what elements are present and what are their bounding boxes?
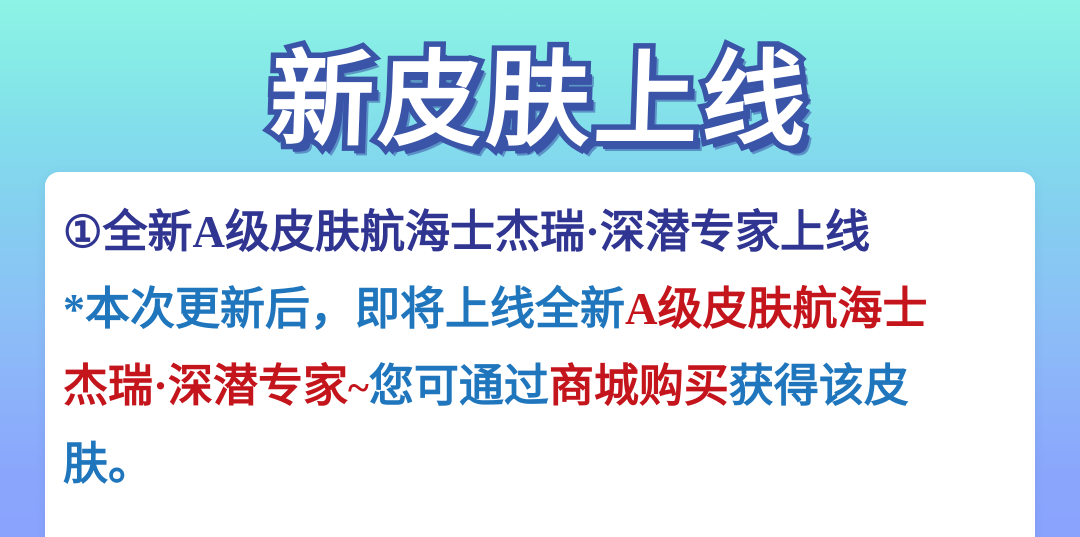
- announcement-line-1: ①全新A级皮肤航海士杰瑞·深潜专家上线: [63, 194, 1017, 271]
- skin-name-text: 杰瑞·深潜专家: [63, 361, 348, 411]
- poster-title-wrapper: 新皮肤上线: [0, 48, 1080, 152]
- announcement-line-4: 肤。: [63, 426, 1017, 502]
- tilde-separator: ~: [348, 365, 369, 410]
- list-marker-circled-one: ①: [63, 208, 102, 257]
- announcement-line-2: *本次更新后，即将上线全新A级皮肤航海士: [63, 271, 1017, 348]
- asterisk-marker: *: [63, 285, 85, 334]
- announcement-card: ①全新A级皮肤航海士杰瑞·深潜专家上线 *本次更新后，即将上线全新A级皮肤航海士…: [45, 172, 1035, 537]
- announcement-line-1-text: 全新A级皮肤航海士杰瑞·深潜专家上线: [102, 207, 870, 257]
- announcement-line-4-text: 肤。: [63, 439, 153, 489]
- announcement-poster: 新皮肤上线 ①全新A级皮肤航海士杰瑞·深潜专家上线 *本次更新后，即将上线全新A…: [0, 0, 1080, 537]
- shop-purchase-text: 商城购买: [549, 361, 729, 411]
- announcement-line-2-text-red: A级皮肤航海士: [625, 284, 928, 334]
- announcement-line-3-text-blue-2: 获得该皮: [729, 361, 909, 411]
- announcement-line-3: 杰瑞·深潜专家~您可通过商城购买获得该皮: [63, 348, 1017, 426]
- page-title: 新皮肤上线: [268, 48, 812, 152]
- announcement-line-3-text-blue-1: 您可通过: [369, 361, 549, 411]
- announcement-line-2-text-blue: 本次更新后，即将上线全新: [85, 284, 625, 334]
- announcement-card-body: ①全新A级皮肤航海士杰瑞·深潜专家上线 *本次更新后，即将上线全新A级皮肤航海士…: [45, 172, 1035, 502]
